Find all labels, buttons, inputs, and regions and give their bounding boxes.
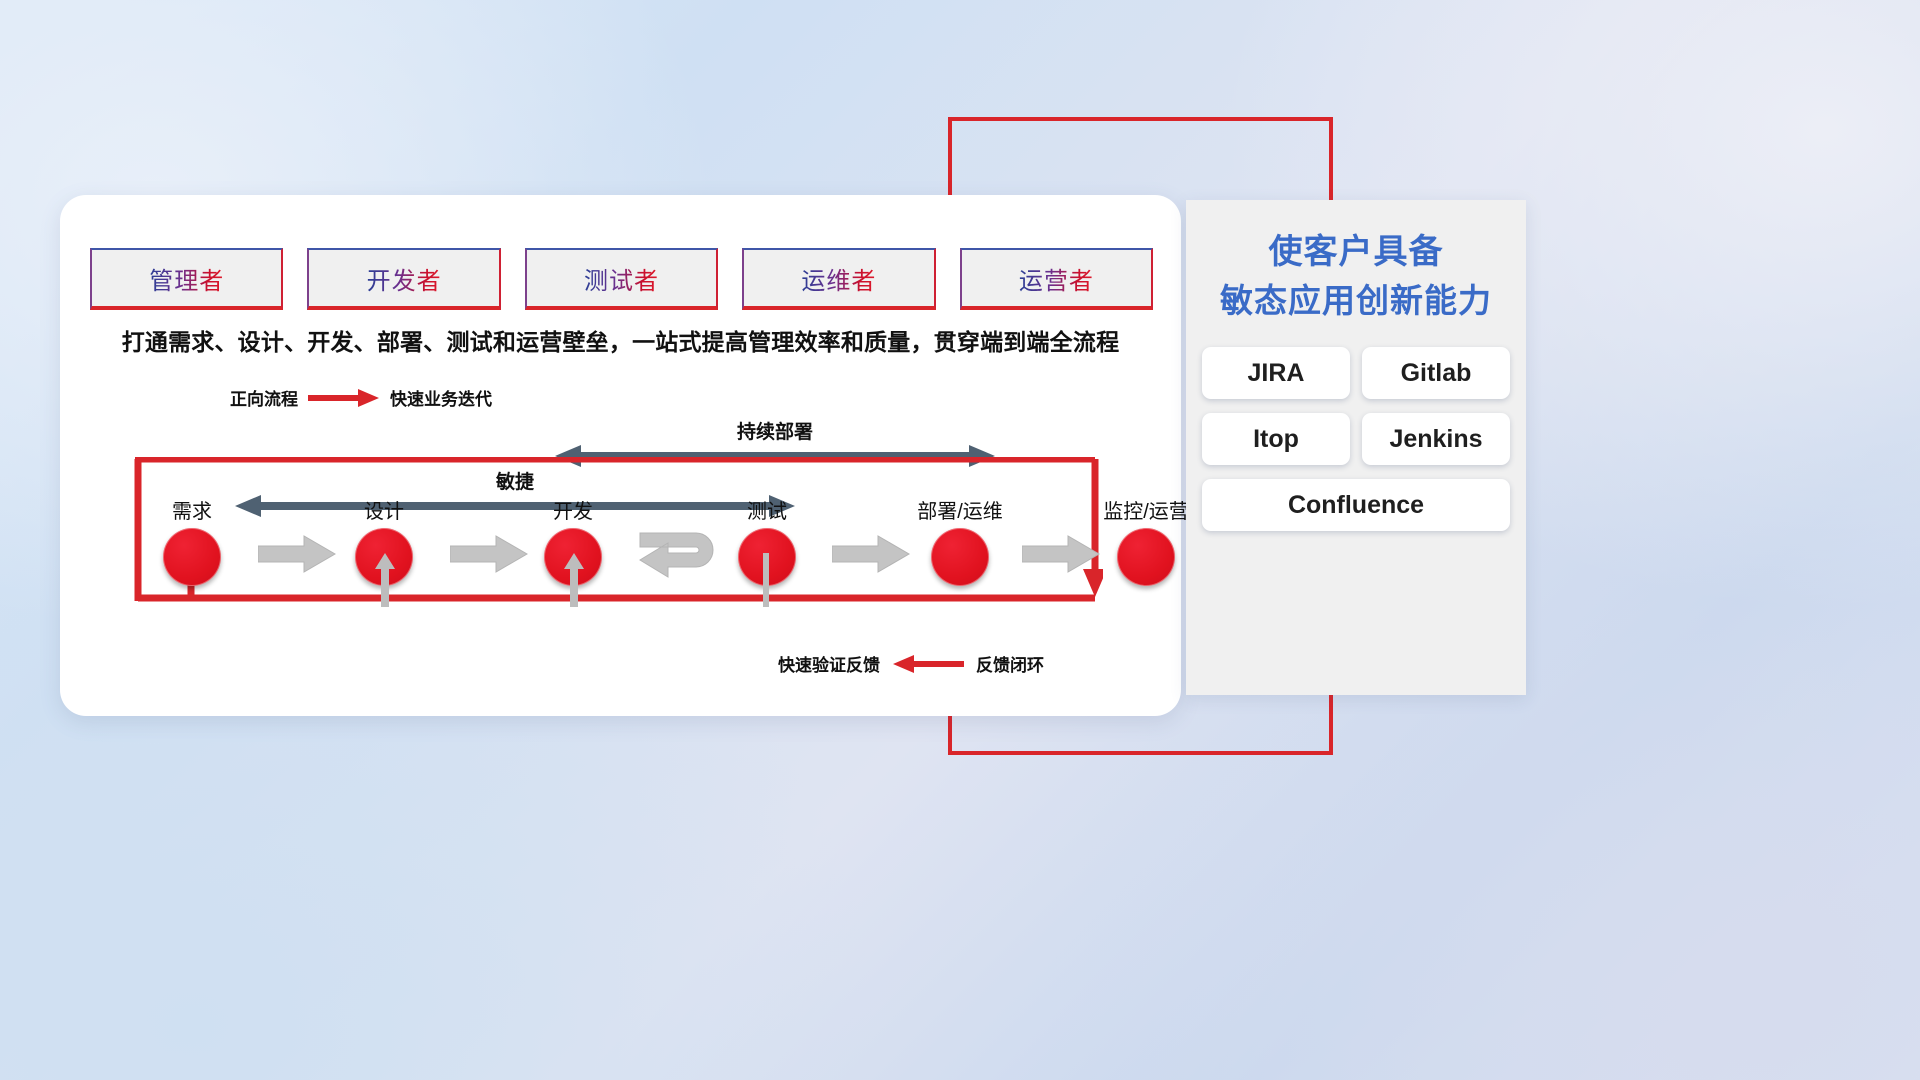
outcome-panel: 使客户具备 敏态应用创新能力 JIRA Gitlab Itop Jenkins … — [1186, 200, 1526, 695]
devops-flow-card: 管理者 开发者 测试者 运维者 运营者 打通需求、设计、开发、部署、测试和运营壁… — [60, 195, 1181, 716]
stage-label: 开发 — [513, 495, 633, 524]
role-label: 开发者 — [367, 261, 442, 296]
description-text: 打通需求、设计、开发、部署、测试和运营壁垒，一站式提高管理效率和质量，贯穿端到端… — [60, 323, 1181, 357]
role-box-manager[interactable]: 管理者 — [90, 248, 283, 310]
red-right-arrow-icon — [308, 389, 380, 407]
tool-pill-gitlab[interactable]: Gitlab — [1362, 347, 1510, 399]
legend-forward-right-label: 快速业务迭代 — [390, 385, 492, 410]
panel-title-line-2: 敏态应用创新能力 — [1186, 277, 1526, 325]
stage-stem-icon — [374, 553, 396, 607]
panel-title: 使客户具备 敏态应用创新能力 — [1186, 228, 1526, 325]
role-label: 测试者 — [584, 261, 659, 296]
stage-label: 测试 — [707, 495, 827, 524]
tool-pill-jira[interactable]: JIRA — [1202, 347, 1350, 399]
flow-arrow-icon — [450, 535, 528, 573]
stage-stem-icon — [563, 553, 585, 607]
legend-feedback-loop: 快速验证反馈 反馈闭环 — [778, 651, 1044, 676]
stage-dot-icon — [931, 528, 989, 586]
legend-feedback-right-label: 反馈闭环 — [976, 651, 1044, 676]
role-box-tester[interactable]: 测试者 — [525, 248, 718, 310]
stage-requirements[interactable]: 需求 — [132, 495, 252, 586]
stage-stem-icon — [760, 553, 772, 607]
legend-forward-left-label: 正向流程 — [230, 385, 298, 410]
role-label: 运维者 — [801, 261, 876, 296]
tool-pill-itop[interactable]: Itop — [1202, 413, 1350, 465]
role-box-ops[interactable]: 运维者 — [742, 248, 935, 310]
stage-label: 部署/运维 — [900, 495, 1020, 524]
legend-forward-flow: 正向流程 快速业务迭代 — [230, 385, 492, 410]
tool-pill-confluence[interactable]: Confluence — [1202, 479, 1510, 531]
role-box-developer[interactable]: 开发者 — [307, 248, 500, 310]
legend-feedback-left-label: 快速验证反馈 — [778, 651, 880, 676]
iteration-loop-arrow-icon — [638, 525, 730, 587]
role-box-operations[interactable]: 运营者 — [960, 248, 1153, 310]
tool-list: JIRA Gitlab Itop Jenkins Confluence — [1198, 347, 1514, 531]
flow-arrow-icon — [258, 535, 336, 573]
role-label: 管理者 — [149, 261, 224, 296]
tool-pill-jenkins[interactable]: Jenkins — [1362, 413, 1510, 465]
stage-label: 设计 — [324, 495, 444, 524]
panel-title-line-1: 使客户具备 — [1186, 228, 1526, 277]
red-left-arrow-icon — [892, 655, 964, 673]
stage-label: 需求 — [132, 495, 252, 524]
stage-deploy-ops[interactable]: 部署/运维 — [900, 495, 1020, 586]
role-boxes-row: 管理者 开发者 测试者 运维者 运营者 — [90, 248, 1153, 310]
continuous-deployment-label: 持续部署 — [555, 417, 995, 444]
stage-dot-icon — [1117, 528, 1175, 586]
flow-arrow-icon — [1022, 535, 1100, 573]
flow-arrow-icon — [832, 535, 910, 573]
stage-dot-icon — [163, 528, 221, 586]
role-label: 运营者 — [1019, 261, 1094, 296]
pipeline-stages: 需求 设计 开发 测试 部署/运维 监控/运营 — [60, 495, 1181, 605]
slide-canvas: 管理者 开发者 测试者 运维者 运营者 打通需求、设计、开发、部署、测试和运营壁… — [0, 0, 1920, 1080]
